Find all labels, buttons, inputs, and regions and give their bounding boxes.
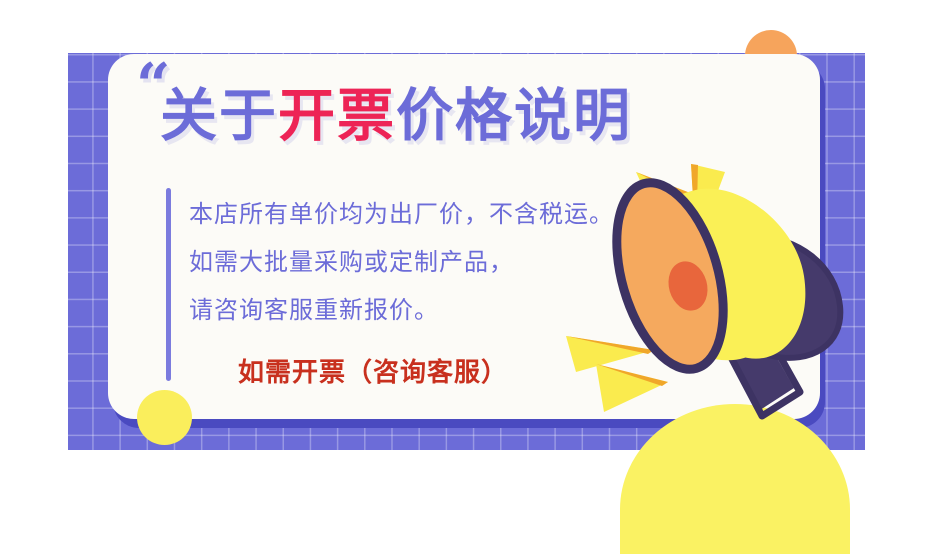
- burst-ray-lower-2: [596, 364, 668, 412]
- title-segment-highlight: 开票: [278, 83, 396, 149]
- megaphone-illustration: [548, 158, 888, 458]
- page-title: 关于开票价格说明: [160, 88, 632, 145]
- yellow-circle-decoration: [137, 390, 192, 445]
- callout-text: 如需开票（咨询客服）: [238, 352, 508, 389]
- title-segment-c: 价格说明: [396, 83, 632, 149]
- promo-banner: “ 关于开票价格说明 本店所有单价均为出厂价，不含税运。 如需大批量采购或定制产…: [0, 0, 933, 554]
- vertical-accent-bar: [166, 188, 171, 381]
- title-segment-a: 关于: [160, 83, 278, 149]
- burst-ray-lower-1: [566, 336, 654, 372]
